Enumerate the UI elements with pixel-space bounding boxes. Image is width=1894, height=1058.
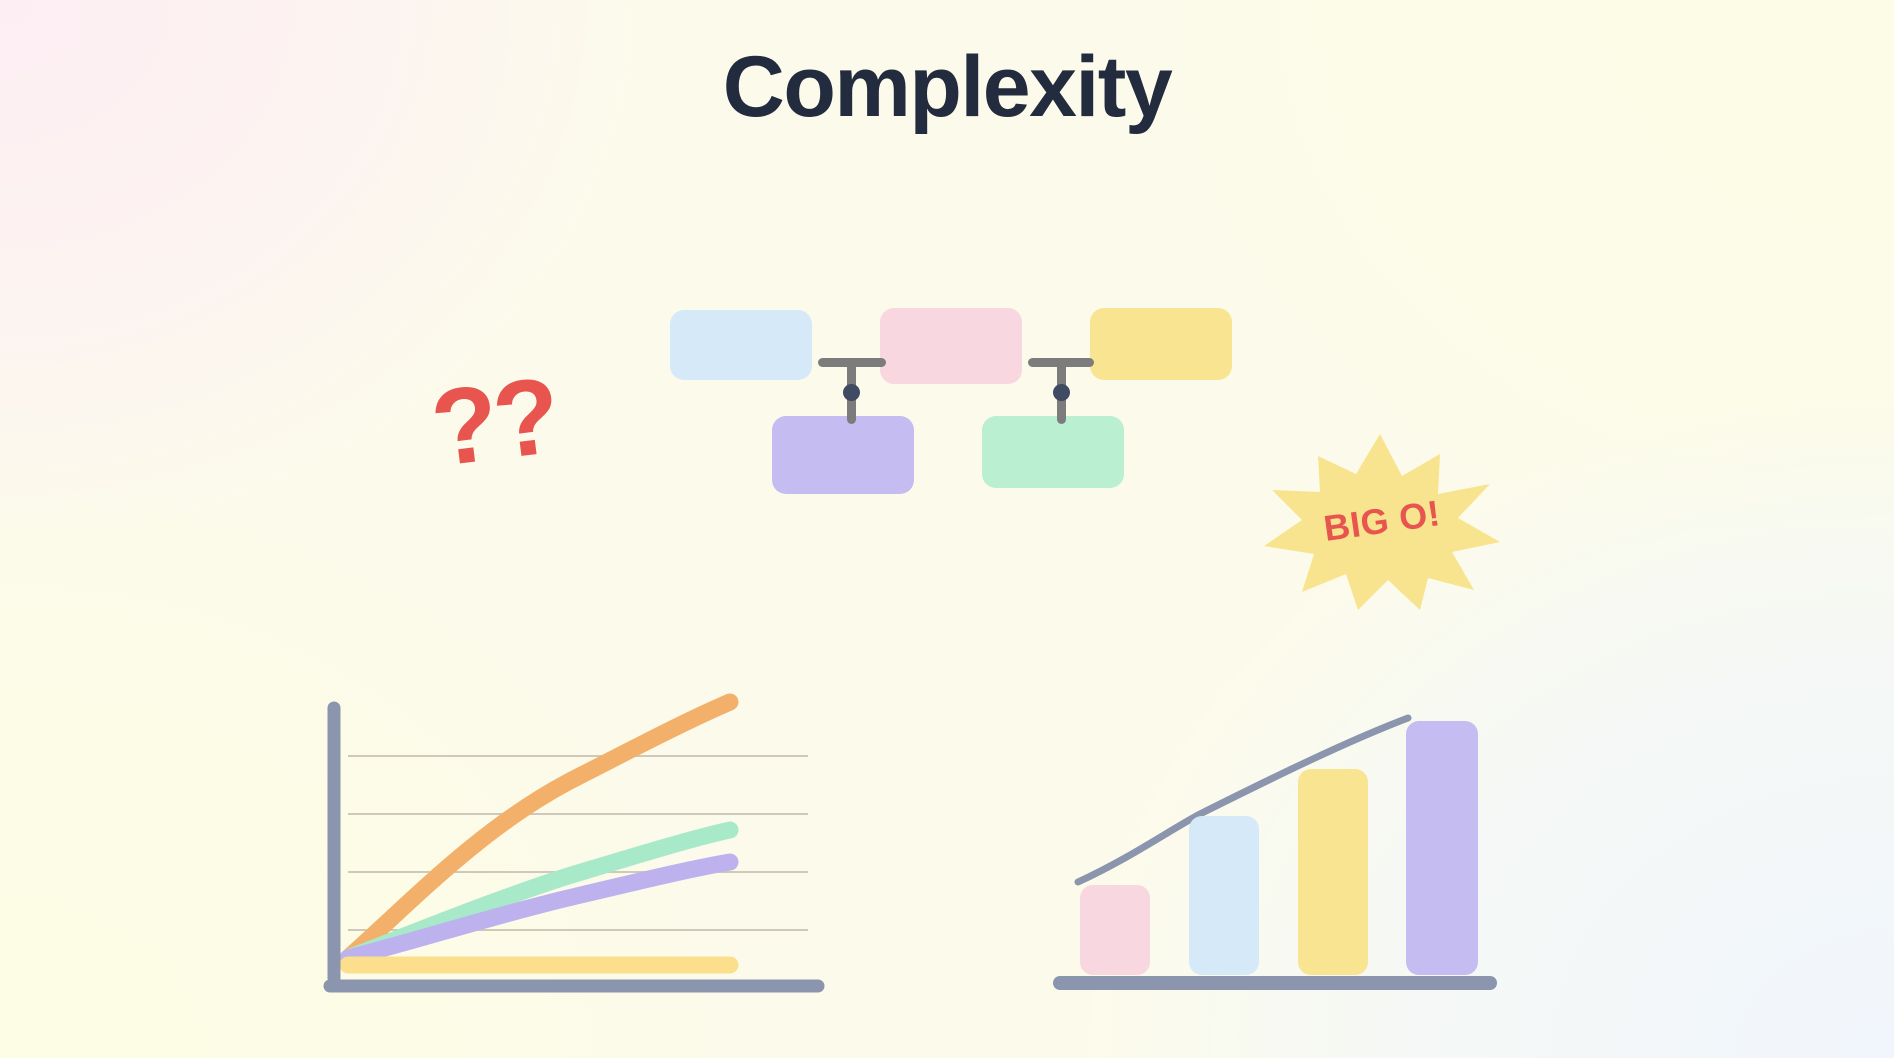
bar-chart-svg: [1050, 690, 1510, 1000]
flow-node-2[interactable]: [880, 308, 1022, 384]
series-steep-growth: [348, 702, 730, 958]
flow-node-3[interactable]: [1090, 308, 1232, 380]
flow-connector-dot-2: [1053, 384, 1070, 401]
page-title: Complexity: [0, 44, 1894, 130]
flow-connector-dot-1: [843, 384, 860, 401]
bar-2[interactable]: [1189, 816, 1259, 975]
flow-node-1[interactable]: [670, 310, 812, 380]
flow-node-5[interactable]: [982, 416, 1124, 488]
line-chart: [318, 690, 838, 1000]
line-chart-series: [348, 702, 730, 965]
bar-4[interactable]: [1406, 721, 1478, 975]
line-chart-svg: [318, 690, 838, 1000]
flow-diagram: [640, 300, 1240, 500]
poster-canvas: Complexity ?? BIG O!: [0, 0, 1894, 1058]
background-glow-bottom-right: [0, 0, 1894, 1058]
flow-node-4[interactable]: [772, 416, 914, 494]
big-o-starburst: BIG O!: [1262, 432, 1502, 612]
question-marks-annotation: ??: [426, 361, 562, 483]
bar-3[interactable]: [1298, 769, 1368, 975]
bar-chart: [1050, 690, 1510, 1000]
bar-1[interactable]: [1080, 885, 1150, 975]
